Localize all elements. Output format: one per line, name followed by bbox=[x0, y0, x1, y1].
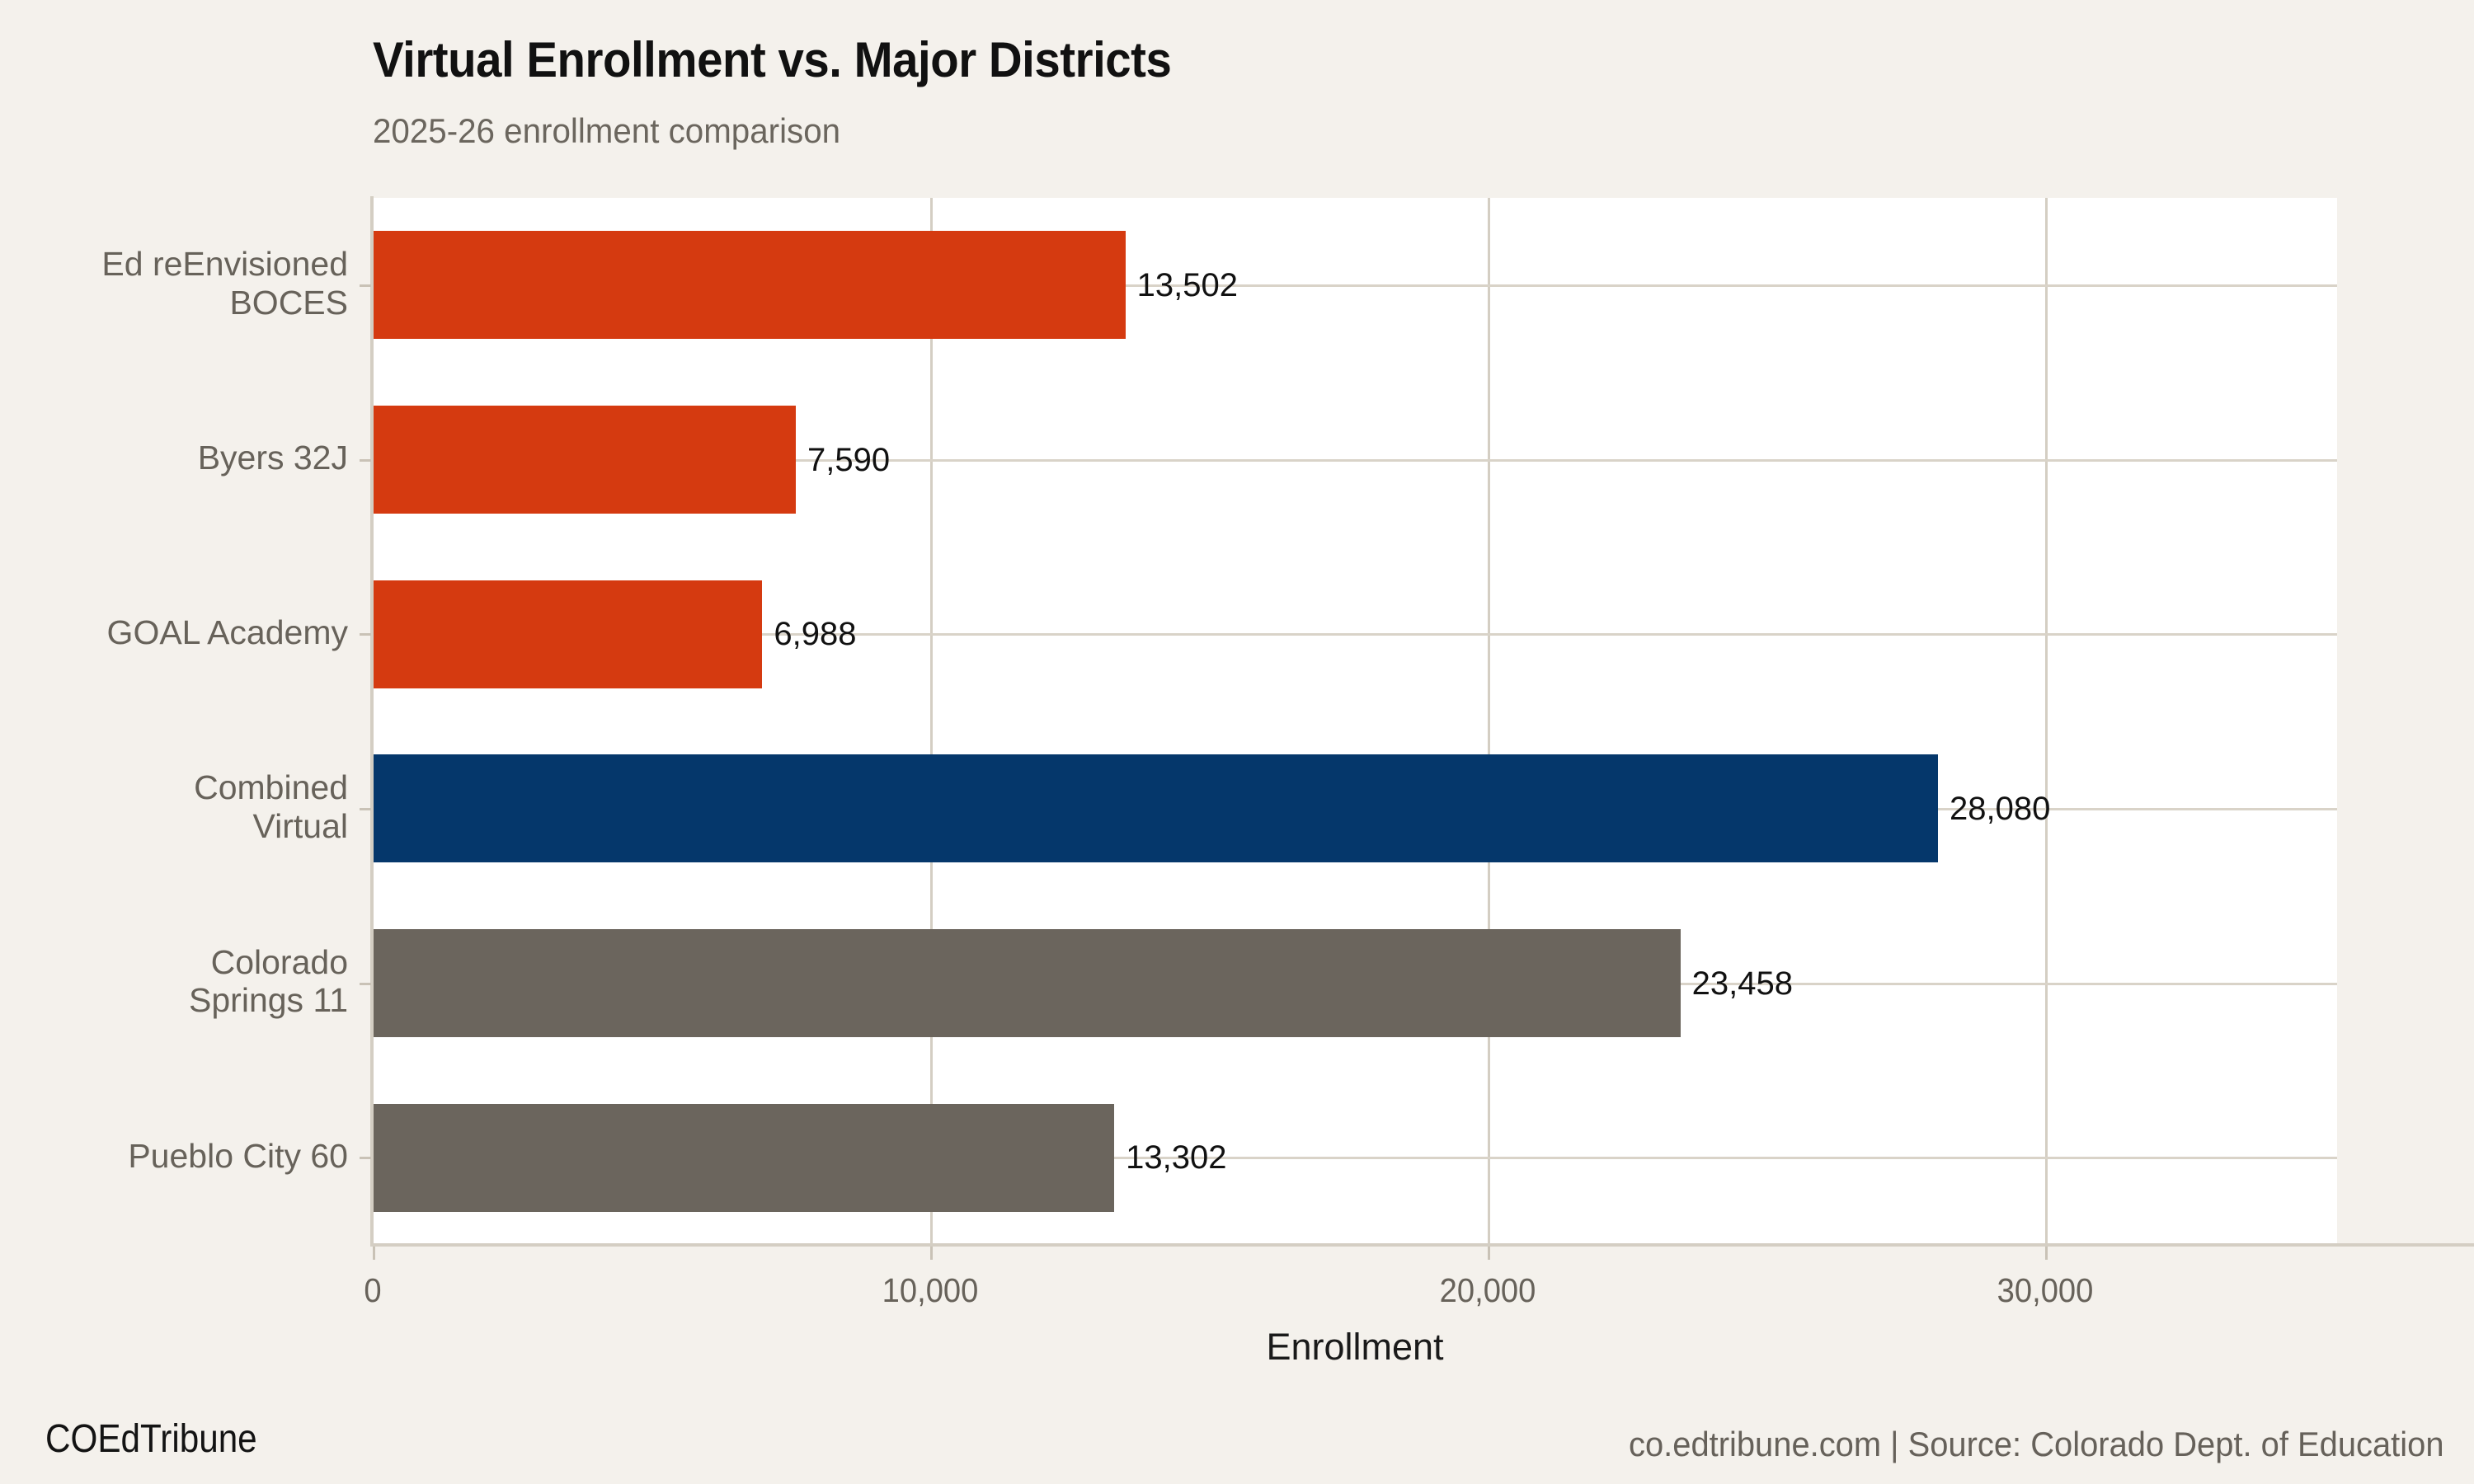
y-tick-label: Combined Virtual bbox=[194, 768, 348, 845]
bar[interactable] bbox=[373, 406, 796, 514]
x-tick-label: 0 bbox=[364, 1271, 381, 1310]
chart-figure: Virtual Enrollment vs. Major Districts 2… bbox=[0, 0, 2474, 1484]
x-tick-mark bbox=[1488, 1247, 1490, 1260]
y-tick-label: Byers 32J bbox=[198, 439, 348, 477]
y-tick-label: Pueblo City 60 bbox=[128, 1137, 348, 1176]
x-tick-label: 10,000 bbox=[882, 1271, 979, 1310]
bar[interactable] bbox=[373, 754, 1938, 862]
x-tick-mark bbox=[2045, 1247, 2048, 1260]
bar[interactable] bbox=[373, 231, 1126, 339]
bar-value-label: 13,502 bbox=[1137, 269, 1238, 302]
y-tick-mark bbox=[360, 808, 371, 810]
gridline-vertical bbox=[2045, 198, 2048, 1245]
gridline-vertical bbox=[1488, 198, 1490, 1245]
page-title: Virtual Enrollment vs. Major Districts bbox=[373, 31, 1171, 88]
y-tick-mark bbox=[360, 983, 371, 985]
bar-value-label: 13,302 bbox=[1126, 1141, 1226, 1174]
chart-subtitle: 2025-26 enrollment comparison bbox=[373, 111, 840, 151]
plot-area: 13,5027,5906,98828,08023,45813,302 bbox=[373, 198, 2337, 1245]
bar-value-label: 7,590 bbox=[807, 444, 890, 477]
y-tick-label: Ed reEnvisioned BOCES bbox=[101, 245, 348, 322]
x-tick-label: 30,000 bbox=[1997, 1271, 2093, 1310]
bar[interactable] bbox=[373, 580, 762, 688]
gridline-vertical bbox=[930, 198, 933, 1245]
bar-value-label: 23,458 bbox=[1692, 967, 1793, 1000]
bar-value-label: 6,988 bbox=[774, 618, 856, 650]
bar[interactable] bbox=[373, 1104, 1114, 1212]
footer-brand: COEdTribune bbox=[45, 1416, 257, 1462]
bar-value-label: 28,080 bbox=[1950, 792, 2050, 825]
x-tick-label: 20,000 bbox=[1440, 1271, 1536, 1310]
x-axis-title: Enrollment bbox=[1266, 1326, 1443, 1369]
y-tick-label: GOAL Academy bbox=[107, 613, 348, 652]
bar[interactable] bbox=[373, 929, 1681, 1037]
y-tick-mark bbox=[360, 284, 371, 287]
x-tick-mark bbox=[930, 1247, 933, 1260]
y-tick-label: Colorado Springs 11 bbox=[189, 943, 348, 1020]
y-tick-mark bbox=[360, 633, 371, 636]
x-axis-line bbox=[370, 1243, 2474, 1247]
y-tick-mark bbox=[360, 1157, 371, 1159]
y-axis-line bbox=[370, 196, 374, 1247]
footer-source: co.edtribune.com | Source: Colorado Dept… bbox=[1630, 1425, 2444, 1464]
y-tick-mark bbox=[360, 459, 371, 462]
x-tick-mark bbox=[373, 1247, 375, 1260]
